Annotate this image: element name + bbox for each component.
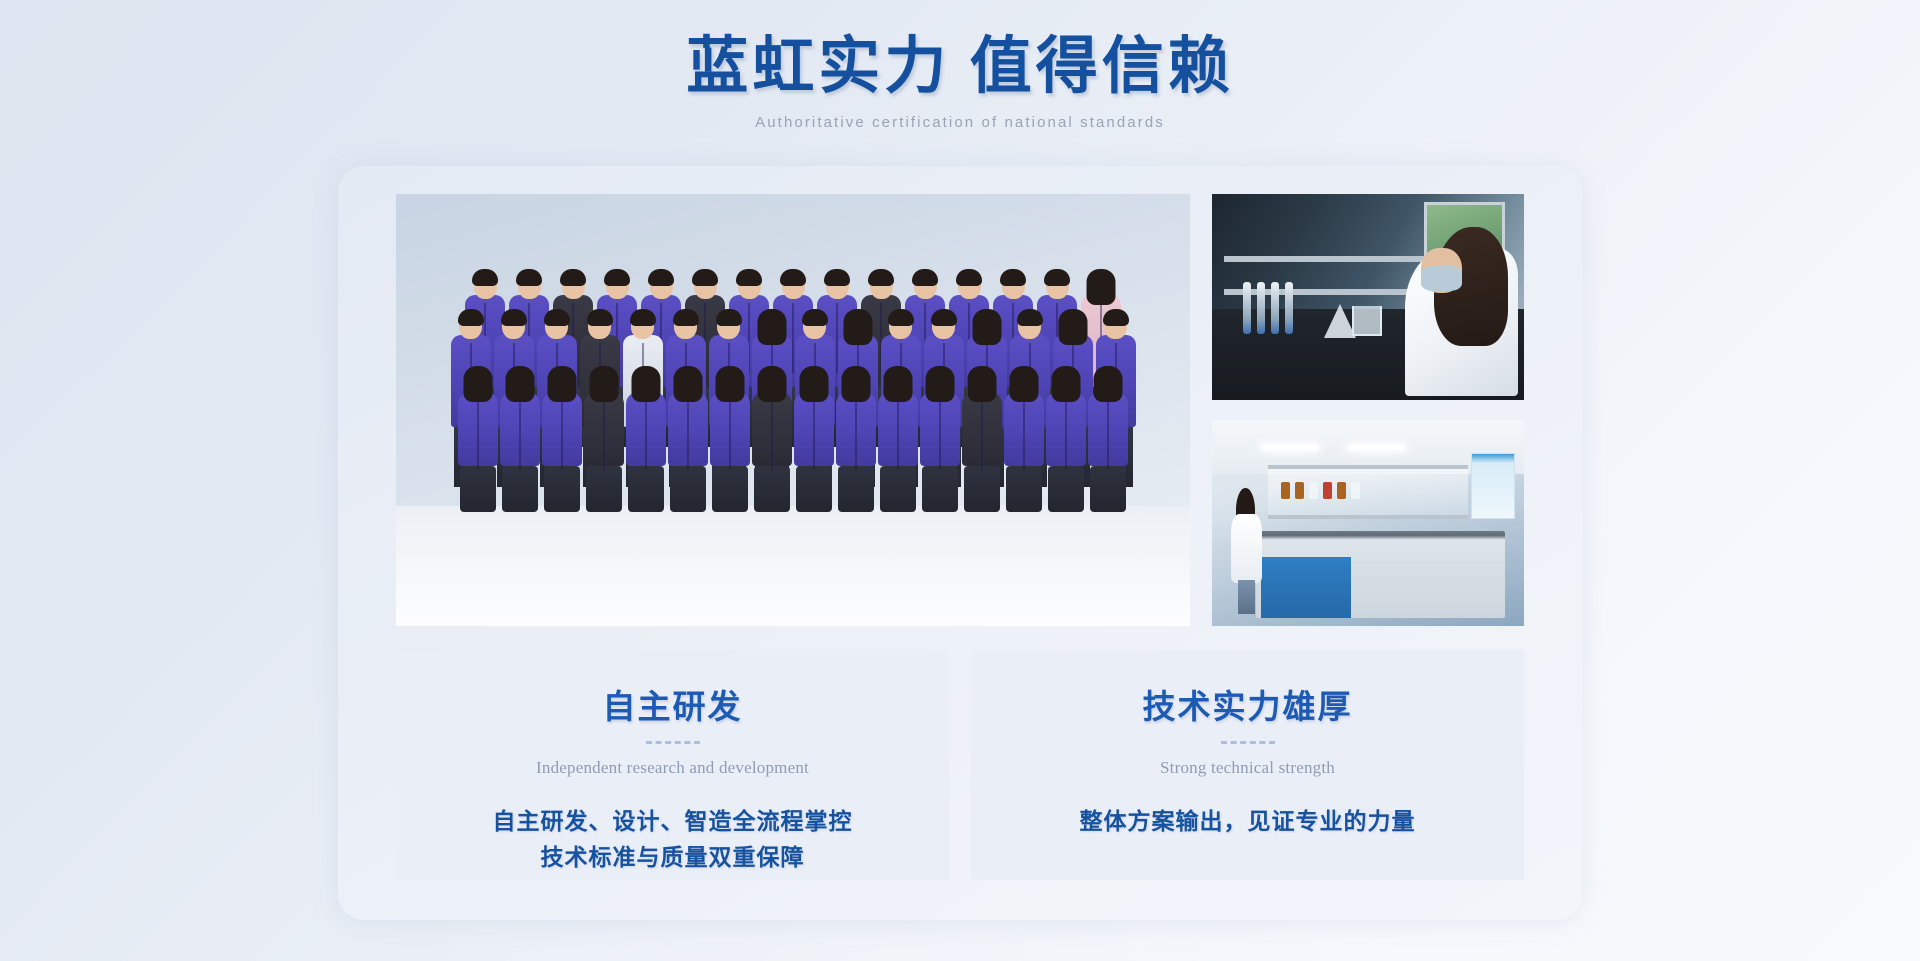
card-body: 自主研发、设计、智造全流程掌控 技术标准与质量双重保障: [420, 804, 925, 877]
feature-card-technical-strength: 技术实力雄厚 Strong technical strength 整体方案输出，…: [971, 650, 1524, 880]
card-body-line-1: 自主研发、设计、智造全流程掌控: [420, 804, 925, 840]
side-photo-column: [1212, 194, 1524, 626]
ceiling-light-left: [1262, 445, 1318, 450]
team-photo: [396, 194, 1190, 626]
technician-face-mask: [1421, 266, 1462, 291]
card-body-line-1: 整体方案输出，见证专业的力量: [995, 804, 1500, 840]
feature-card-independent-rd: 自主研发 Independent research and developmen…: [396, 650, 949, 880]
card-title: 自主研发: [420, 680, 925, 728]
ceiling-light-right: [1349, 445, 1405, 450]
reagent-bottles: [1281, 482, 1360, 499]
card-body-line-2: 技术标准与质量双重保障: [420, 840, 925, 876]
content-panel: 自主研发 Independent research and developmen…: [338, 166, 1582, 920]
team-photo-floor: [396, 506, 1190, 626]
photo-grid: [396, 194, 1524, 626]
lab-beaker: [1352, 306, 1382, 336]
lab-room-worker: [1231, 486, 1262, 614]
page-header: 蓝虹实力 值得信赖 Authoritative certification of…: [0, 0, 1920, 131]
page-subtitle: Authoritative certification of national …: [0, 114, 1920, 131]
card-divider: [646, 741, 700, 744]
safety-poster: [1471, 453, 1515, 519]
card-divider: [1221, 741, 1275, 744]
lab-island-bench: [1256, 531, 1506, 618]
pipette-rack: [1243, 282, 1293, 334]
page-title: 蓝虹实力 值得信赖: [0, 30, 1920, 104]
laboratory-room-photo: [1212, 420, 1524, 626]
page-root: 蓝虹实力 值得信赖 Authoritative certification of…: [0, 0, 1920, 961]
panel-inner: 自主研发 Independent research and developmen…: [396, 194, 1524, 886]
team-row-front: [396, 369, 1190, 512]
lab-technician-photo: [1212, 194, 1524, 400]
card-subtitle: Independent research and development: [420, 758, 925, 778]
card-title: 技术实力雄厚: [995, 680, 1500, 728]
feature-card-list: 自主研发 Independent research and developmen…: [396, 650, 1524, 880]
card-body: 整体方案输出，见证专业的力量: [995, 804, 1500, 840]
card-subtitle: Strong technical strength: [995, 758, 1500, 778]
